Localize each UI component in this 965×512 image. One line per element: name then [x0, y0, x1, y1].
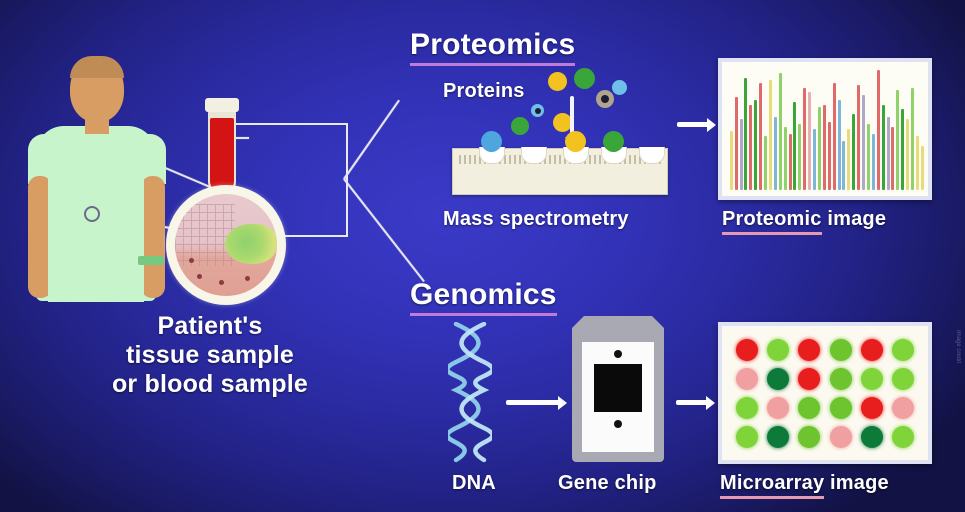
microarray-cell [731, 364, 762, 393]
spectrum-bar [847, 129, 850, 190]
spectrum-bar [803, 88, 806, 190]
arrow-chip-to-microarray [676, 400, 708, 405]
spectrum-bar [793, 102, 796, 190]
microarray-cell [825, 364, 856, 393]
microarray-spot [798, 368, 820, 390]
figure-canvas: Patient's tissue sample or blood sample … [0, 0, 965, 512]
spectrum-bars [728, 68, 924, 190]
microarray-spot [830, 339, 852, 361]
label-gene-chip: Gene chip [558, 472, 657, 495]
tumor-region [225, 224, 277, 264]
microarray-spot [892, 339, 914, 361]
heading-proteomics-text: Proteomics [410, 28, 575, 66]
spectrum-bar [740, 119, 743, 190]
spectrum-bar [921, 146, 924, 190]
microarray-cell [794, 393, 825, 422]
spectrum-bar [818, 107, 821, 190]
dna-helix-svg [448, 322, 492, 464]
spectrum-bar [730, 131, 733, 190]
microarray-spot [861, 426, 883, 448]
microarray-spot [830, 426, 852, 448]
cell-nucleus [197, 274, 202, 279]
spectrum-bar [891, 127, 894, 190]
image-credit: Image credit [950, 330, 962, 452]
spectrum-bar [877, 70, 880, 190]
chip-alignment-dot-top [614, 350, 622, 358]
spectrum-bar [823, 105, 826, 190]
microarray-cell [856, 364, 887, 393]
blood-collection-tube [205, 98, 239, 195]
microarray-spot [736, 397, 758, 419]
spectrum-bar [789, 134, 792, 190]
heading-genomics: Genomics [410, 278, 557, 316]
heading-genomics-text: Genomics [410, 278, 557, 316]
microarray-cell [856, 335, 887, 364]
tissue-cell-grid [175, 204, 235, 266]
well-sample [603, 131, 624, 152]
spectrum-bar [808, 92, 811, 190]
injection-site-mark [84, 206, 100, 222]
microarray-cell [762, 393, 793, 422]
microarray-cell [888, 335, 919, 364]
spectrum-bar [842, 141, 845, 190]
microarray-cell [825, 393, 856, 422]
microarray-spot [861, 368, 883, 390]
label-microarray-emph: Microarray [720, 472, 824, 499]
mass-spec-sample-plate [452, 148, 668, 195]
spectrum-bar [852, 114, 855, 190]
microarray-cell [762, 422, 793, 451]
protein-core [535, 108, 541, 114]
microarray-spot [736, 339, 758, 361]
well-sample [481, 131, 502, 152]
bandaid [138, 256, 164, 265]
spectrum-bar [735, 97, 738, 190]
label-dna: DNA [452, 472, 496, 495]
dna-double-helix [448, 322, 492, 464]
microarray-spot [861, 339, 883, 361]
spectrum-bar [764, 136, 767, 190]
spectrum-bar [872, 134, 875, 190]
protein-particle [511, 117, 529, 135]
cell-nucleus [245, 276, 250, 281]
blood-fill [210, 118, 234, 193]
well-sample [565, 131, 586, 152]
patient-caption-line3: or blood sample [60, 370, 360, 399]
microarray-spot [736, 426, 758, 448]
microarray-spot [892, 368, 914, 390]
microarray-cell [856, 393, 887, 422]
microarray-cell [888, 422, 919, 451]
spectrum-bar [749, 105, 752, 190]
proteomic-spectrum-image [718, 58, 932, 200]
patient-hair [70, 56, 124, 78]
arrow-dna-to-chip [506, 400, 560, 405]
protein-core [601, 95, 609, 103]
microarray-cell [731, 335, 762, 364]
label-proteomic-emph: Proteomic [722, 208, 822, 235]
microarray-spot [767, 426, 789, 448]
spectrum-bar [911, 88, 914, 190]
label-proteomic-image: Proteomic image [722, 208, 886, 235]
protein-particle [548, 72, 567, 91]
spectrum-bar [759, 83, 762, 190]
spectrum-bar [828, 122, 831, 190]
microarray-cell [794, 422, 825, 451]
spectrum-bar [754, 100, 757, 190]
microarray-spot [830, 368, 852, 390]
patient-caption-line2: tissue sample [60, 341, 360, 370]
label-mass-spectrometry: Mass spectrometry [443, 208, 629, 231]
cell-nucleus [189, 258, 194, 263]
label-microarray-rest: image [824, 472, 889, 494]
branch-line-genomics [343, 178, 425, 282]
microarray-spot [830, 397, 852, 419]
tissue-section [175, 194, 277, 296]
protein-particle [596, 90, 614, 108]
spectrum-bar [813, 129, 816, 190]
spectrum-bar [882, 105, 885, 190]
label-proteomic-rest: image [822, 208, 887, 230]
spectrum-bar [901, 109, 904, 190]
proteins-label: Proteins [443, 80, 525, 103]
patient-arm-right [141, 176, 165, 298]
spectrum-bar [862, 95, 865, 190]
plate-well [639, 147, 665, 164]
spectrum-bar [769, 80, 772, 190]
microarray-cell [825, 422, 856, 451]
microarray-cell [794, 364, 825, 393]
tube-cap [205, 98, 239, 112]
protein-particle [612, 80, 627, 95]
microarray-cell [888, 364, 919, 393]
spectrum-bar [906, 119, 909, 190]
chip-probe-array [594, 364, 642, 412]
microarray-cell [856, 422, 887, 451]
microarray-cell [888, 393, 919, 422]
spectrum-bar [867, 124, 870, 190]
patient-caption: Patient's tissue sample or blood sample [60, 312, 360, 399]
arrow-ms-to-spectrum [677, 122, 709, 127]
microarray-spot [861, 397, 883, 419]
protein-particle [531, 104, 544, 117]
microarray-spot [798, 426, 820, 448]
microarray-spot [767, 368, 789, 390]
spectrum-bar [784, 127, 787, 190]
protein-particle [574, 68, 595, 89]
microarray-cell [731, 393, 762, 422]
spectrum-bar [887, 117, 890, 190]
microarray-cell [731, 422, 762, 451]
microarray-cell [762, 364, 793, 393]
patient-figure [22, 56, 172, 306]
patient-caption-line1: Patient's [60, 312, 360, 341]
chip-alignment-dot-bottom [614, 420, 622, 428]
branch-line-proteomics [343, 100, 400, 180]
spectrum-bar [833, 83, 836, 190]
spectrum-bar [798, 124, 801, 190]
microarray-cell [762, 335, 793, 364]
cell-nucleus [219, 280, 224, 285]
spectrum-bar [779, 73, 782, 190]
spectrum-bar [838, 100, 841, 190]
gene-chip [572, 316, 664, 462]
patient-gown-front [48, 176, 144, 302]
microarray-spot [892, 426, 914, 448]
spectrum-bar [916, 136, 919, 190]
spectrum-bar [857, 85, 860, 190]
microarray-image [718, 322, 932, 464]
microarray-spot [767, 339, 789, 361]
label-microarray-image: Microarray image [720, 472, 889, 499]
spectrum-bar [744, 78, 747, 190]
microarray-spot [736, 368, 758, 390]
microarray-spot [892, 397, 914, 419]
heading-proteomics: Proteomics [410, 28, 575, 66]
spectrum-bar [896, 90, 899, 190]
microarray-cell [825, 335, 856, 364]
microarray-spot [798, 339, 820, 361]
spectrum-bar [774, 117, 777, 190]
microarray-spot [798, 397, 820, 419]
tissue-sample-magnifier [166, 185, 286, 305]
microarray-cell [794, 335, 825, 364]
microarray-spot [767, 397, 789, 419]
microarray-spot-grid [731, 335, 919, 451]
